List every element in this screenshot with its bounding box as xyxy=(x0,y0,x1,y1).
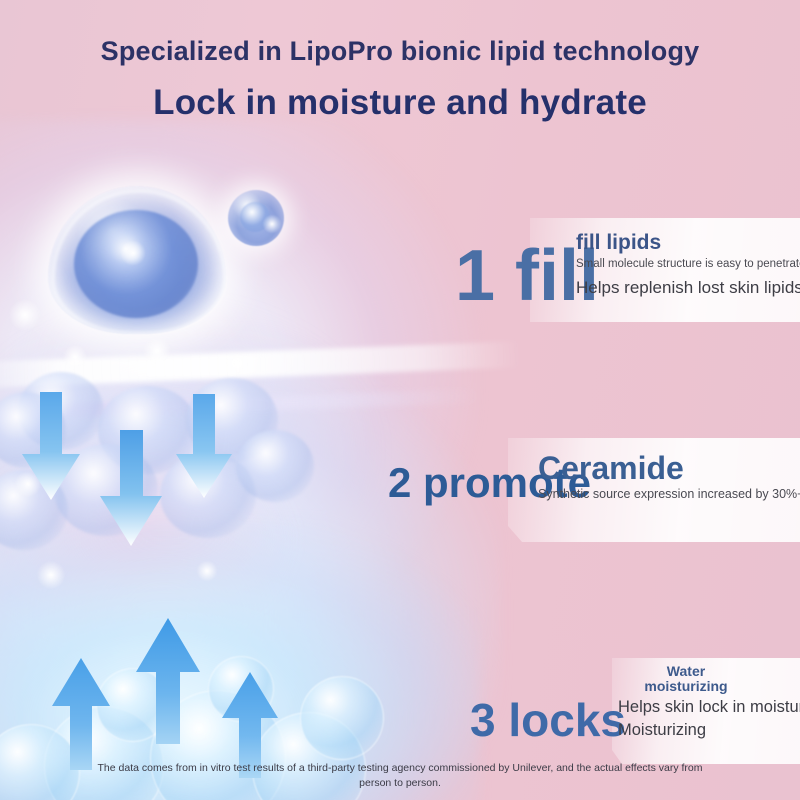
sparkle-star xyxy=(36,560,66,590)
step-3-benefit-secondary: Moisturizing xyxy=(618,721,800,741)
sparkle-star xyxy=(196,560,218,582)
step-2-text: Ceramide Synthetic source expression inc… xyxy=(538,452,800,502)
skin-surface-line-secondary xyxy=(0,389,480,421)
cell-texture-blob xyxy=(186,378,278,462)
cell-texture-blob xyxy=(18,372,104,450)
cell-texture-blob xyxy=(0,470,68,550)
arrow-down-icon xyxy=(176,394,232,498)
sparkle-star xyxy=(142,336,172,366)
step-1-title: fill lipids xyxy=(576,232,800,254)
sparkle-star xyxy=(226,352,248,374)
cell-texture-blob xyxy=(54,444,158,536)
sparkle-star xyxy=(118,512,142,536)
glow-haze-pink xyxy=(0,430,300,650)
sparkle-star xyxy=(62,344,88,370)
cell-texture-blob xyxy=(0,392,66,468)
step-3-title-line1: Water xyxy=(638,664,734,679)
glow-haze-lower xyxy=(0,520,480,800)
disclaimer: The data comes from in vitro test result… xyxy=(0,761,800,793)
lipid-droplet-highlight xyxy=(120,240,146,266)
sparkle-star xyxy=(262,214,282,234)
step-2-note: Synthetic source expression increased by… xyxy=(538,487,800,503)
step-3-text: Water moisturizing Helps skin lock in mo… xyxy=(618,664,800,741)
step-3-benefit: Helps skin lock in moisture xyxy=(618,698,800,718)
subtitle-text: Specialized in LipoPro bionic lipid tech… xyxy=(0,36,800,67)
lipid-droplet-large xyxy=(48,186,226,334)
disclaimer-line-2: person to person. xyxy=(14,776,786,792)
water-bubble xyxy=(300,676,384,760)
arrow-up-icon xyxy=(52,658,110,770)
step-3-title-line2: moisturizing xyxy=(638,679,734,694)
cell-texture-blob xyxy=(98,386,198,474)
lipid-droplet-small-core xyxy=(240,202,270,232)
sparkle-star xyxy=(14,470,42,498)
infographic-canvas: Specialized in LipoPro bionic lipid tech… xyxy=(0,0,800,800)
skin-surface-line xyxy=(0,341,520,388)
water-bubble xyxy=(96,668,170,742)
arrow-down-icon xyxy=(22,392,80,500)
cell-texture-blob xyxy=(160,452,256,538)
heading-block: Specialized in LipoPro bionic lipid tech… xyxy=(0,0,800,123)
glow-haze-upper xyxy=(0,120,480,680)
page-title: Lock in moisture and hydrate xyxy=(0,83,800,123)
lipid-droplet-small xyxy=(228,190,284,246)
lipid-droplet-rim xyxy=(52,190,226,334)
arrow-down-icon xyxy=(100,430,162,546)
glow-haze-violet xyxy=(0,300,380,600)
lipid-droplet-large-core xyxy=(74,210,198,318)
step-1-text: fill lipids Small molecule structure is … xyxy=(576,232,800,299)
step-2-title: Ceramide xyxy=(538,452,800,486)
glow-haze-middle xyxy=(0,330,500,800)
cell-texture-blob xyxy=(236,430,314,502)
step-1-benefit: Helps replenish lost skin lipids xyxy=(576,278,800,298)
water-bubble xyxy=(208,656,274,722)
step-3-number: 3 locks xyxy=(470,697,626,743)
arrow-up-icon xyxy=(136,618,200,744)
step-1-note: Small molecule structure is easy to pene… xyxy=(576,257,800,271)
sparkle-star xyxy=(8,298,42,332)
disclaimer-line-1: The data comes from in vitro test result… xyxy=(14,761,786,777)
